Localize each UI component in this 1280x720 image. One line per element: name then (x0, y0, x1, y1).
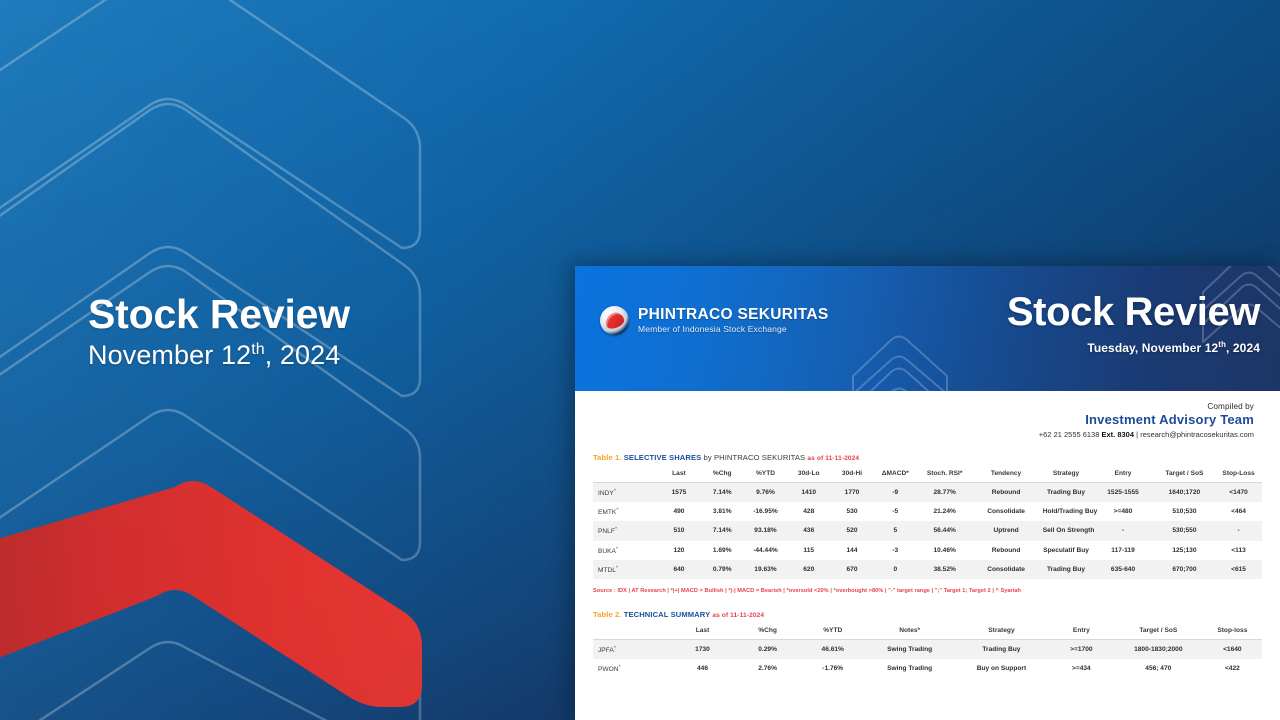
table1-col-ytd: %YTD (744, 465, 787, 483)
slide-date-prefix: November 12 (88, 340, 251, 370)
ticker-label: PNLF (598, 529, 615, 536)
row-macd: 0 (874, 560, 917, 579)
row-target: 510;530 (1154, 502, 1215, 521)
row-tendency: Consolidate (972, 560, 1039, 579)
table1-col-ticker (593, 465, 657, 483)
row-entry: 635-640 (1092, 560, 1153, 579)
row-strategy: Buy on Support (954, 659, 1049, 678)
contact-extension: Ext. 8304 (1102, 430, 1135, 439)
row-ytd: -44.44% (744, 541, 787, 560)
row-lo: 1410 (787, 483, 830, 503)
row-strategy: Trading Buy (1040, 483, 1093, 503)
row-target: 530;550 (1154, 521, 1215, 540)
page-title: Stock Review (88, 292, 350, 336)
row-last: 640 (657, 560, 700, 579)
selective-shares-table: Last %Chg %YTD 30d-Lo 30d-Hi ΔMACD* Stoc… (593, 465, 1262, 579)
row-ticker: MTDL^ (593, 560, 657, 579)
row-hi: 144 (830, 541, 873, 560)
document-date-ordinal: th (1218, 340, 1226, 349)
row-hi: 520 (830, 521, 873, 540)
document-header-band: PHINTRACO SEKURITAS Member of Indonesia … (575, 266, 1280, 391)
contact-email[interactable]: research@phintracosekuritas.com (1140, 430, 1254, 439)
phintraco-logo-icon (600, 306, 629, 335)
table1-col-strategy: Strategy (1040, 465, 1093, 483)
row-macd: 5 (874, 521, 917, 540)
table-row[interactable]: MTDL^ 640 0.79% 19.63% 620 670 0 38.52% … (593, 560, 1262, 579)
document-title-block: Stock Review Tuesday, November 12th, 202… (1007, 292, 1260, 355)
row-lo: 620 (787, 560, 830, 579)
row-ytd: -16.95% (744, 502, 787, 521)
table2-col-strategy: Strategy (954, 622, 1049, 640)
table1-col-target: Target / SoS (1154, 465, 1215, 483)
row-strategy: Sell On Strength (1040, 521, 1093, 540)
row-last: 490 (657, 502, 700, 521)
row-rsi: 56.44% (917, 521, 973, 540)
row-last: 510 (657, 521, 700, 540)
row-notes: Swing Trading (865, 659, 954, 678)
slide-date-suffix: , 2024 (265, 340, 341, 370)
table1-col-macd: ΔMACD* (874, 465, 917, 483)
company-name-block: PHINTRACO SEKURITAS Member of Indonesia … (638, 307, 829, 333)
advisory-team-name: Investment Advisory Team (593, 412, 1254, 427)
table1-col-30d-lo: 30d-Lo (787, 465, 830, 483)
row-target: 456; 470 (1114, 659, 1203, 678)
row-lo: 428 (787, 502, 830, 521)
row-last: 1575 (657, 483, 700, 503)
row-target: 1640;1720 (1154, 483, 1215, 503)
row-chg: 1.69% (701, 541, 744, 560)
table1-col-entry: Entry (1092, 465, 1153, 483)
syariah-mark: ^ (615, 526, 617, 531)
ticker-label: JPFA (598, 647, 614, 654)
ticker-label: BUKA (598, 548, 616, 555)
row-tendency: Uptrend (972, 521, 1039, 540)
row-lo: 115 (787, 541, 830, 560)
row-stop: <1640 (1203, 639, 1262, 659)
row-target: 670;700 (1154, 560, 1215, 579)
row-ytd: 9.76% (744, 483, 787, 503)
row-strategy: Trading Buy (1040, 560, 1093, 579)
table2-caption-label: Table 2. (593, 610, 622, 619)
table1-caption-by: by PHINTRACO SEKURITAS (704, 453, 806, 462)
row-chg: 7.14% (701, 483, 744, 503)
table1-col-stoch-rsi: Stoch. RSI* (917, 465, 973, 483)
table2-caption-asof: as of 11-11-2024 (712, 612, 764, 619)
table2-col-ytd: %YTD (800, 622, 865, 640)
syariah-mark: ^ (616, 565, 618, 570)
row-last: 120 (657, 541, 700, 560)
presentation-slide: Stock Review November 12th, 2024 PHINTRA… (0, 0, 1280, 720)
row-macd: -5 (874, 502, 917, 521)
company-name: PHINTRACO SEKURITAS (638, 307, 829, 323)
table2-col-chg: %Chg (735, 622, 800, 640)
row-tendency: Rebound (972, 541, 1039, 560)
document-date: Tuesday, November 12th, 2024 (1007, 341, 1260, 355)
row-hi: 530 (830, 502, 873, 521)
table2-col-stoploss: Stop-loss (1203, 622, 1262, 640)
row-chg: 2.76% (735, 659, 800, 678)
table-row[interactable]: PWON^ 446 2.76% -1.76% Swing Trading Buy… (593, 659, 1262, 678)
syariah-mark: ^ (614, 488, 616, 493)
row-ticker: JPFA^ (593, 639, 670, 659)
row-tendency: Consolidate (972, 502, 1039, 521)
title-block: Stock Review November 12th, 2024 (88, 292, 350, 371)
document-body: Compiled by Investment Advisory Team +62… (575, 391, 1280, 720)
row-stop: - (1215, 521, 1262, 540)
row-strategy: Speculatif Buy (1040, 541, 1093, 560)
row-ytd: 46.61% (800, 639, 865, 659)
table2-caption: Table 2. TECHNICAL SUMMARY as of 11-11-2… (593, 610, 1262, 619)
row-entry: >=434 (1049, 659, 1114, 678)
table1-col-stoploss: Stop-Loss (1215, 465, 1262, 483)
row-stop: <422 (1203, 659, 1262, 678)
row-macd: -9 (874, 483, 917, 503)
table2-col-last: Last (670, 622, 735, 640)
syariah-mark: ^ (616, 507, 618, 512)
row-strategy: Hold/Trading Buy (1040, 502, 1093, 521)
row-chg: 3.81% (701, 502, 744, 521)
row-rsi: 28.77% (917, 483, 973, 503)
table2-body: JPFA^ 1730 0.29% 46.61% Swing Trading Tr… (593, 639, 1262, 678)
row-ytd: 93.18% (744, 521, 787, 540)
table1-caption-label: Table 1. (593, 453, 622, 462)
row-entry: 1525-1555 (1092, 483, 1153, 503)
row-rsi: 21.24% (917, 502, 973, 521)
row-rsi: 38.52% (917, 560, 973, 579)
row-stop: <1470 (1215, 483, 1262, 503)
row-hi: 670 (830, 560, 873, 579)
row-ticker: INDY^ (593, 483, 657, 503)
row-target: 125;130 (1154, 541, 1215, 560)
row-stop: <113 (1215, 541, 1262, 560)
table1-caption-main: SELECTIVE SHARES (624, 453, 702, 462)
row-ytd: 19.63% (744, 560, 787, 579)
slide-date: November 12th, 2024 (88, 340, 350, 371)
row-entry: >=1700 (1049, 639, 1114, 659)
table-row[interactable]: INDY^ 1575 7.14% 9.76% 1410 1770 -9 28.7… (593, 483, 1262, 503)
row-chg: 0.79% (701, 560, 744, 579)
table1-col-30d-hi: 30d-Hi (830, 465, 873, 483)
table1-col-tendency: Tendency (972, 465, 1039, 483)
row-strategy: Trading Buy (954, 639, 1049, 659)
table1-source-note: Source : IDX | AT Research | *|+| MACD =… (593, 588, 1262, 596)
document-date-prefix: Tuesday, November 12 (1087, 341, 1218, 355)
table-row[interactable]: BUKA^ 120 1.69% -44.44% 115 144 -3 10.46… (593, 541, 1262, 560)
compiled-by-label: Compiled by (593, 402, 1254, 411)
row-hi: 1770 (830, 483, 873, 503)
contact-phone: +62 21 2555 6138 (1039, 430, 1100, 439)
table-row[interactable]: JPFA^ 1730 0.29% 46.61% Swing Trading Tr… (593, 639, 1262, 659)
row-entry: >=480 (1092, 502, 1153, 521)
row-lo: 436 (787, 521, 830, 540)
company-subtitle: Member of Indonesia Stock Exchange (638, 325, 829, 334)
table2-caption-main: TECHNICAL SUMMARY (624, 610, 710, 619)
table-row[interactable]: PNLF^ 510 7.14% 93.18% 436 520 5 56.44% … (593, 521, 1262, 540)
slide-date-ordinal: th (251, 341, 265, 358)
compiled-by-block: Compiled by Investment Advisory Team +62… (593, 391, 1262, 439)
row-macd: -3 (874, 541, 917, 560)
row-entry: 117-119 (1092, 541, 1153, 560)
row-chg: 7.14% (701, 521, 744, 540)
row-ticker: PWON^ (593, 659, 670, 678)
row-chg: 0.29% (735, 639, 800, 659)
table2-col-target: Target / SoS (1114, 622, 1203, 640)
ticker-label: INDY (598, 490, 614, 497)
syariah-mark: ^ (614, 645, 616, 650)
row-stop: <615 (1215, 560, 1262, 579)
technical-summary-table: Last %Chg %YTD Notes* Strategy Entry Tar… (593, 622, 1262, 678)
ticker-label: EMTK (598, 509, 616, 516)
row-notes: Swing Trading (865, 639, 954, 659)
ticker-label: MTDL (598, 567, 616, 574)
document-date-suffix: , 2024 (1226, 341, 1260, 355)
contact-line: +62 21 2555 6138 Ext. 8304 | research@ph… (593, 430, 1254, 439)
row-last: 446 (670, 659, 735, 678)
table2-header-row: Last %Chg %YTD Notes* Strategy Entry Tar… (593, 622, 1262, 640)
document-title: Stock Review (1007, 292, 1260, 332)
syariah-mark: ^ (616, 546, 618, 551)
table-row[interactable]: EMTK^ 490 3.81% -16.95% 428 530 -5 21.24… (593, 502, 1262, 521)
row-stop: <464 (1215, 502, 1262, 521)
table1-header-row: Last %Chg %YTD 30d-Lo 30d-Hi ΔMACD* Stoc… (593, 465, 1262, 483)
table2-col-entry: Entry (1049, 622, 1114, 640)
row-last: 1730 (670, 639, 735, 659)
row-tendency: Rebound (972, 483, 1039, 503)
row-ticker: PNLF^ (593, 521, 657, 540)
company-logo-row: PHINTRACO SEKURITAS Member of Indonesia … (600, 306, 829, 335)
table2-col-ticker (593, 622, 670, 640)
row-ticker: BUKA^ (593, 541, 657, 560)
row-ytd: -1.76% (800, 659, 865, 678)
row-rsi: 10.46% (917, 541, 973, 560)
stock-review-document-preview[interactable]: PHINTRACO SEKURITAS Member of Indonesia … (575, 266, 1280, 720)
ticker-label: PWON (598, 666, 619, 673)
table1-caption-asof: as of 11-11-2024 (807, 455, 859, 462)
row-ticker: EMTK^ (593, 502, 657, 521)
table1-body: INDY^ 1575 7.14% 9.76% 1410 1770 -9 28.7… (593, 483, 1262, 579)
table1-col-chg: %Chg (701, 465, 744, 483)
table2-col-notes: Notes* (865, 622, 954, 640)
table1-caption: Table 1. SELECTIVE SHARES by PHINTRACO S… (593, 453, 1262, 462)
syariah-mark: ^ (619, 664, 621, 669)
row-target: 1800-1830;2000 (1114, 639, 1203, 659)
row-entry: - (1092, 521, 1153, 540)
table1-col-last: Last (657, 465, 700, 483)
